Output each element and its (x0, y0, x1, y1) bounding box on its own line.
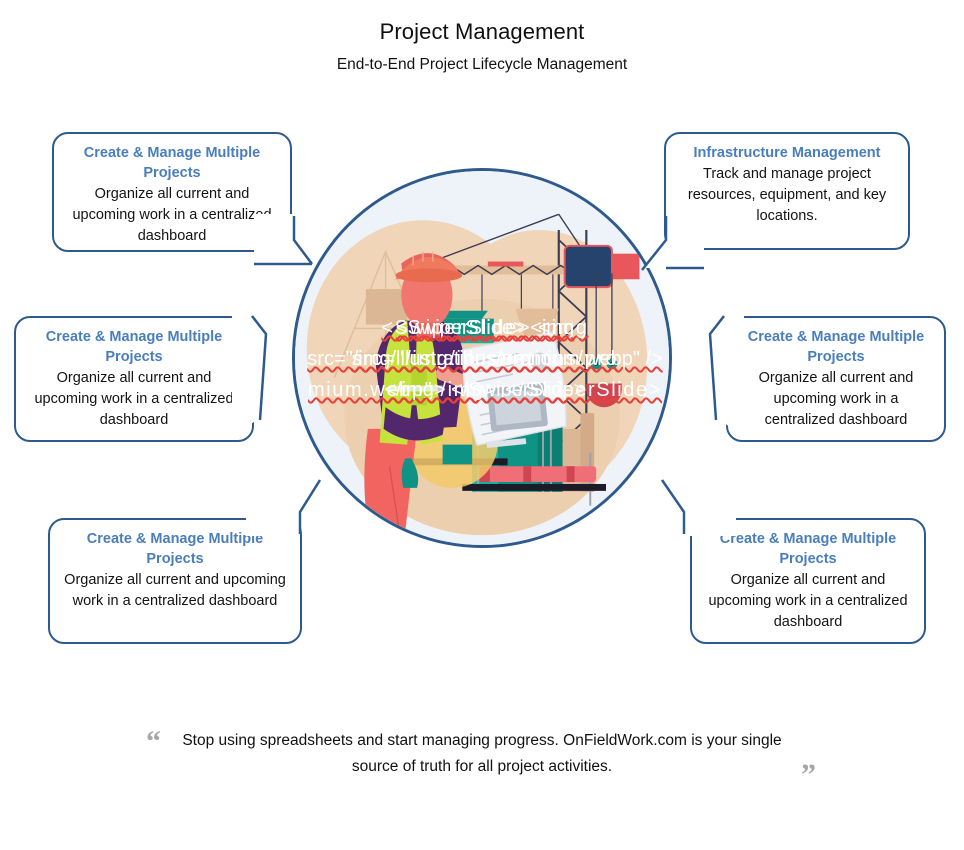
callout-title: Infrastructure Management (676, 143, 898, 163)
callout-title: Create & Manage Multiple Projects (26, 327, 242, 367)
page-title: Project Management (0, 18, 964, 46)
callout-title: Create & Manage Multiple Projects (64, 143, 280, 183)
callout-bottom-right[interactable]: Create & Manage Multiple Projects Organi… (690, 518, 926, 644)
page-subtitle: End-to-End Project Lifecycle Management (0, 55, 964, 74)
callout-middle-right[interactable]: Create & Manage Multiple Projects Organi… (726, 316, 946, 442)
footer-quote: “ Stop using spreadsheets and start mana… (0, 728, 964, 780)
callout-title: Create & Manage Multiple Projects (738, 327, 934, 367)
callout-body: Organize all current and upcoming work i… (60, 570, 290, 612)
callout-body: Track and manage project resources, equi… (676, 164, 898, 227)
header: Project Management End-to-End Project Li… (0, 18, 964, 74)
callout-title: Create & Manage Multiple Projects (702, 529, 914, 569)
callout-body: Organize all current and upcoming work i… (738, 368, 934, 431)
construction-illustration (295, 171, 669, 545)
callout-title: Create & Manage Multiple Projects (60, 529, 290, 569)
callout-top-left[interactable]: Create & Manage Multiple Projects Organi… (52, 132, 292, 252)
quote-text: Stop using spreadsheets and start managi… (182, 732, 781, 775)
callout-body: Organize all current and upcoming work i… (64, 184, 280, 247)
callout-middle-left[interactable]: Create & Manage Multiple Projects Organi… (14, 316, 254, 442)
quote-container: “ Stop using spreadsheets and start mana… (172, 728, 792, 780)
callout-body: Organize all current and upcoming work i… (26, 368, 242, 431)
center-illustration-circle: <SwiperSlide> <img src="/img/illustratio… (292, 168, 672, 548)
callout-top-right[interactable]: Infrastructure Management Track and mana… (664, 132, 910, 250)
callout-body: Organize all current and upcoming work i… (702, 570, 914, 633)
callout-bottom-left[interactable]: Create & Manage Multiple Projects Organi… (48, 518, 302, 644)
